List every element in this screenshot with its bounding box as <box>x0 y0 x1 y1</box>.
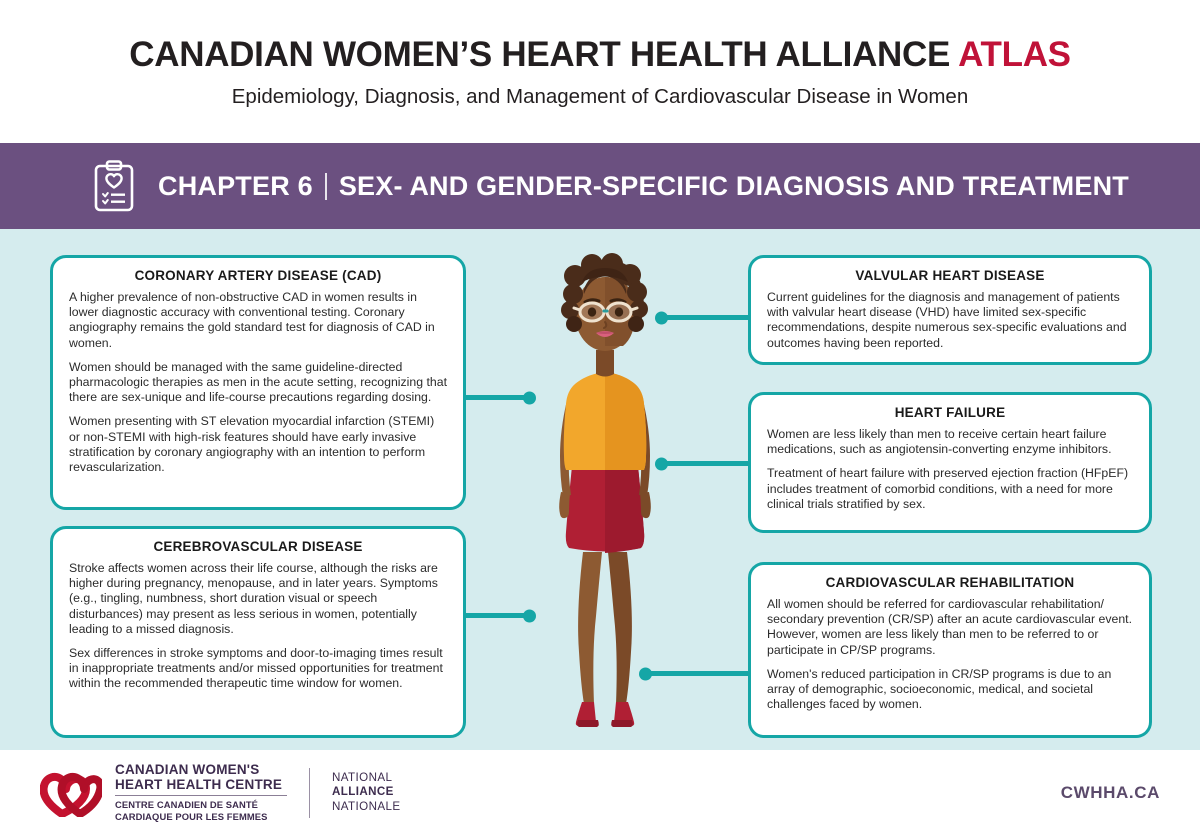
chapter-banner: CHAPTER 6 SEX- AND GENDER-SPECIFIC DIAGN… <box>0 143 1200 229</box>
callout-cardiovascular-rehabilitation: CARDIOVASCULAR REHABILITATION All women … <box>748 562 1152 738</box>
chapter-number: CHAPTER 6 <box>158 171 313 202</box>
callout-title: HEART FAILURE <box>767 405 1133 420</box>
alliance-line-2: ALLIANCE <box>332 785 400 800</box>
alliance-line-3: NATIONALE <box>332 800 400 815</box>
national-alliance-name: NATIONAL ALLIANCE NATIONALE <box>332 771 400 815</box>
callout-coronary-artery-disease: CORONARY ARTERY DISEASE (CAD) A higher p… <box>50 255 466 510</box>
callout-paragraph: A higher prevalence of non-obstructive C… <box>69 290 447 351</box>
alliance-line-1: NATIONAL <box>332 771 400 786</box>
callout-title: VALVULAR HEART DISEASE <box>767 268 1133 283</box>
callout-cerebrovascular-disease: CEREBROVASCULAR DISEASE Stroke affects w… <box>50 526 466 738</box>
website-link[interactable]: CWHHA.CA <box>1061 783 1160 803</box>
callout-title: CEREBROVASCULAR DISEASE <box>69 539 447 554</box>
chapter-divider <box>325 173 327 200</box>
page-subtitle: Epidemiology, Diagnosis, and Management … <box>232 85 968 109</box>
org-line-2: HEART HEALTH CENTRE <box>115 778 287 793</box>
organization-name: CANADIAN WOMEN'S HEART HEALTH CENTRE CEN… <box>115 763 287 822</box>
organization-logo: CANADIAN WOMEN'S HEART HEALTH CENTRE CEN… <box>40 763 400 822</box>
page-title-main: CANADIAN WOMEN’S HEART HEALTH ALLIANCE <box>129 35 958 74</box>
callout-paragraph: Women should be managed with the same gu… <box>69 360 447 406</box>
chapter-heading: CHAPTER 6 SEX- AND GENDER-SPECIFIC DIAGN… <box>158 171 1129 202</box>
org-line-4: CARDIAQUE POUR LES FEMMES <box>115 811 287 823</box>
footer-divider <box>309 768 310 818</box>
chapter-title: SEX- AND GENDER-SPECIFIC DIAGNOSIS AND T… <box>339 171 1129 202</box>
org-line-1: CANADIAN WOMEN'S <box>115 763 287 778</box>
callout-paragraph: Stroke affects women across their life c… <box>69 561 447 637</box>
callout-paragraph: Sex differences in stroke symptoms and d… <box>69 646 447 692</box>
logo-divider <box>115 795 287 796</box>
interlocking-hearts-logo-icon <box>40 769 102 817</box>
page-title-accent: ATLAS <box>958 35 1071 74</box>
callout-title: CORONARY ARTERY DISEASE (CAD) <box>69 268 447 283</box>
callout-paragraph: Women's reduced participation in CR/SP p… <box>767 667 1133 713</box>
infographic-page: CANADIAN WOMEN’S HEART HEALTH ALLIANCE A… <box>0 0 1200 835</box>
page-header: CANADIAN WOMEN’S HEART HEALTH ALLIANCE A… <box>0 0 1200 143</box>
callout-heart-failure: HEART FAILURE Women are less likely than… <box>748 392 1152 533</box>
callout-valvular-heart-disease: VALVULAR HEART DISEASE Current guideline… <box>748 255 1152 365</box>
callout-paragraph: Current guidelines for the diagnosis and… <box>767 290 1133 351</box>
page-footer: CANADIAN WOMEN'S HEART HEALTH CENTRE CEN… <box>0 750 1200 835</box>
callout-paragraph: Women presenting with ST elevation myoca… <box>69 414 447 475</box>
clipboard-heart-icon <box>92 160 136 212</box>
callout-title: CARDIOVASCULAR REHABILITATION <box>767 575 1133 590</box>
callout-paragraph: Women are less likely than men to receiv… <box>767 427 1133 457</box>
org-line-3: CENTRE CANADIEN DE SANTÉ <box>115 799 287 811</box>
callout-paragraph: All women should be referred for cardiov… <box>767 597 1133 658</box>
callout-paragraph: Treatment of heart failure with preserve… <box>767 466 1133 512</box>
page-title: CANADIAN WOMEN’S HEART HEALTH ALLIANCE A… <box>129 35 1070 75</box>
woman-illustration <box>520 252 690 730</box>
